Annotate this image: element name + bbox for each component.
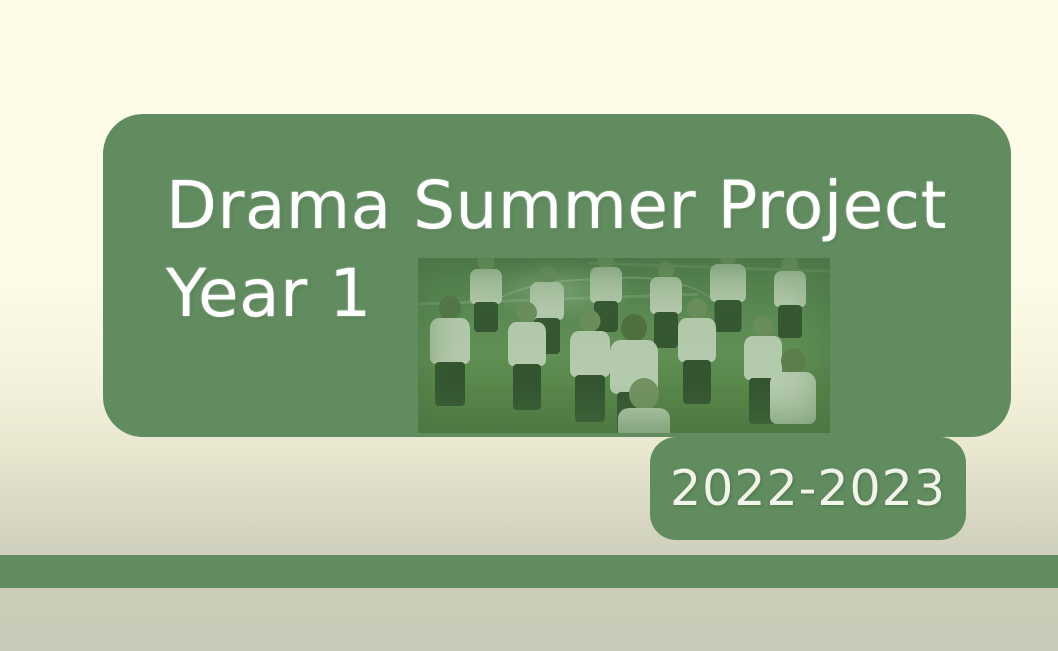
bottom-green-stripe: [0, 555, 1058, 588]
title-line-1: Drama Summer Project: [166, 162, 996, 250]
students-on-field-photo: [418, 258, 830, 433]
title-card: Drama Summer Project Year 1: [103, 114, 1011, 437]
photo-vignette: [418, 258, 830, 433]
bottom-band: [0, 588, 1058, 651]
year-badge: 2022-2023: [650, 437, 966, 540]
presentation-slide: Drama Summer Project Year 1 2022-2023: [0, 0, 1058, 651]
year-badge-label: 2022-2023: [670, 464, 946, 513]
